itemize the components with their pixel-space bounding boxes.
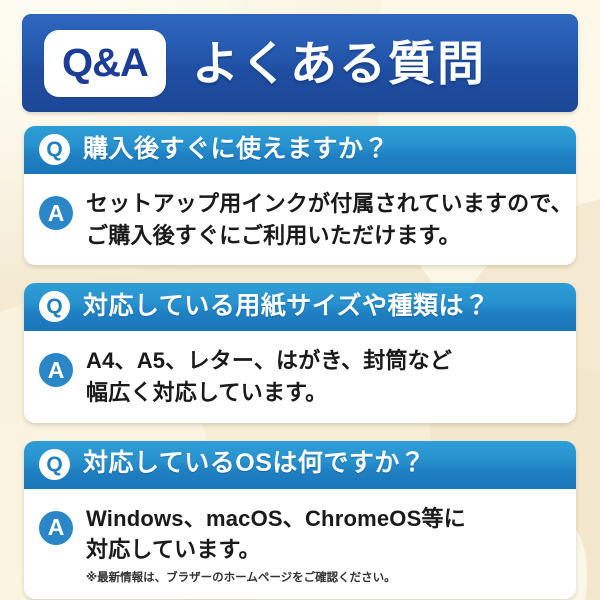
faq-answer-body: A セットアップ用インクが付属されていますので、 ご購入後すぐにご利用いただけま… (24, 174, 576, 265)
faq-answer-line: 幅広く対応しています。 (86, 377, 452, 409)
faq-answer-text: Windows、macOS、ChromeOS等に 対応しています。 ※最新情報は… (86, 502, 466, 585)
header-banner: Q&A よくある質問 (22, 14, 578, 112)
page-title: よくある質問 (192, 40, 486, 87)
question-icon-label: Q (46, 454, 62, 475)
question-icon-label: Q (46, 139, 62, 160)
question-mark-icon: Q (39, 449, 70, 480)
faq-answer-text: セットアップ用インクが付属されていますので、 ご購入後すぐにご利用いただけます。 (86, 187, 573, 251)
answer-icon-label: A (48, 359, 65, 382)
question-mark-icon: Q (39, 291, 70, 322)
question-icon-label: Q (46, 296, 62, 317)
answer-mark-icon: A (39, 511, 73, 545)
faq-question-header[interactable]: Q 対応しているOSは何ですか？ (24, 441, 576, 489)
qa-badge-label: Q&A (62, 43, 148, 83)
answer-mark-icon: A (39, 196, 73, 230)
faq-answer-line: 対応しています。 (86, 534, 466, 566)
faq-question-header[interactable]: Q 対応している用紙サイズや種類は？ (24, 283, 576, 331)
faq-answer-line: Windows、macOS、ChromeOS等に (86, 503, 466, 535)
qa-badge: Q&A (44, 30, 166, 97)
faq-question-header[interactable]: Q 購入後すぐに使えますか？ (24, 126, 576, 174)
answer-icon-label: A (48, 202, 65, 225)
faq-list: Q 購入後すぐに使えますか？ A セットアップ用インクが付属されていますので、 … (24, 126, 576, 600)
faq-answer-text: A4、A5、レター、はがき、封筒など 幅広く対応しています。 (86, 344, 452, 408)
faq-footnote: ※最新情報は、ブラザーのホームページをご確認ください。 (86, 569, 466, 585)
answer-mark-icon: A (39, 353, 73, 387)
faq-answer-line: セットアップ用インクが付属されていますので、 (86, 188, 573, 220)
faq-question-text: 対応しているOSは何ですか？ (83, 450, 425, 478)
faq-answer-body: A A4、A5、レター、はがき、封筒など 幅広く対応しています。 (24, 331, 576, 422)
faq-infographic: Q&A よくある質問 Q 購入後すぐに使えますか？ A セットアップ用インクが付… (0, 0, 600, 600)
faq-card[interactable]: Q 購入後すぐに使えますか？ A セットアップ用インクが付属されていますので、 … (24, 126, 576, 265)
faq-answer-body: A Windows、macOS、ChromeOS等に 対応しています。 ※最新情… (24, 489, 576, 599)
faq-question-text: 対応している用紙サイズや種類は？ (83, 293, 490, 321)
faq-answer-line: ご購入後すぐにご利用いただけます。 (86, 220, 573, 252)
question-mark-icon: Q (39, 134, 70, 165)
faq-question-text: 購入後すぐに使えますか？ (83, 136, 389, 164)
faq-card[interactable]: Q 対応している用紙サイズや種類は？ A A4、A5、レター、はがき、封筒など … (24, 283, 576, 422)
answer-icon-label: A (48, 516, 65, 539)
faq-card[interactable]: Q 対応しているOSは何ですか？ A Windows、macOS、ChromeO… (24, 441, 576, 599)
faq-answer-line: A4、A5、レター、はがき、封筒など (86, 345, 452, 377)
